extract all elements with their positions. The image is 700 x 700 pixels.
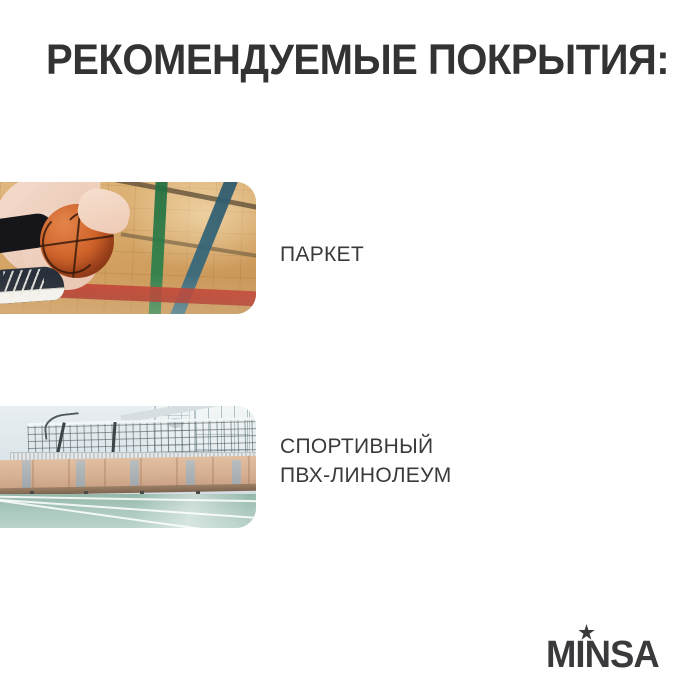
pvc-floor-surface [0,494,256,528]
brand-name: MINSA [546,636,659,674]
wall-post-1 [22,460,31,490]
photo-card-pvc-linoleum [0,406,256,528]
page-title: РЕКОМЕНДУЕМЫЕ ПОКРЫТИЯ: [46,36,669,84]
photo-label-parquet: ПАРКЕТ [280,240,364,269]
brand-logo: MINSA [546,624,670,674]
wall-post-2 [76,460,85,490]
photo-card-parquet [0,182,256,314]
parquet-gym-floor-photo [0,182,256,314]
floor-reflection [0,274,256,314]
floor-sheen [136,494,246,528]
photo-label-pvc-linoleum: СПОРТИВНЫЙ ПВХ-ЛИНОЛЕУМ [280,432,452,490]
pvc-linoleum-gym-floor-photo [0,406,256,528]
